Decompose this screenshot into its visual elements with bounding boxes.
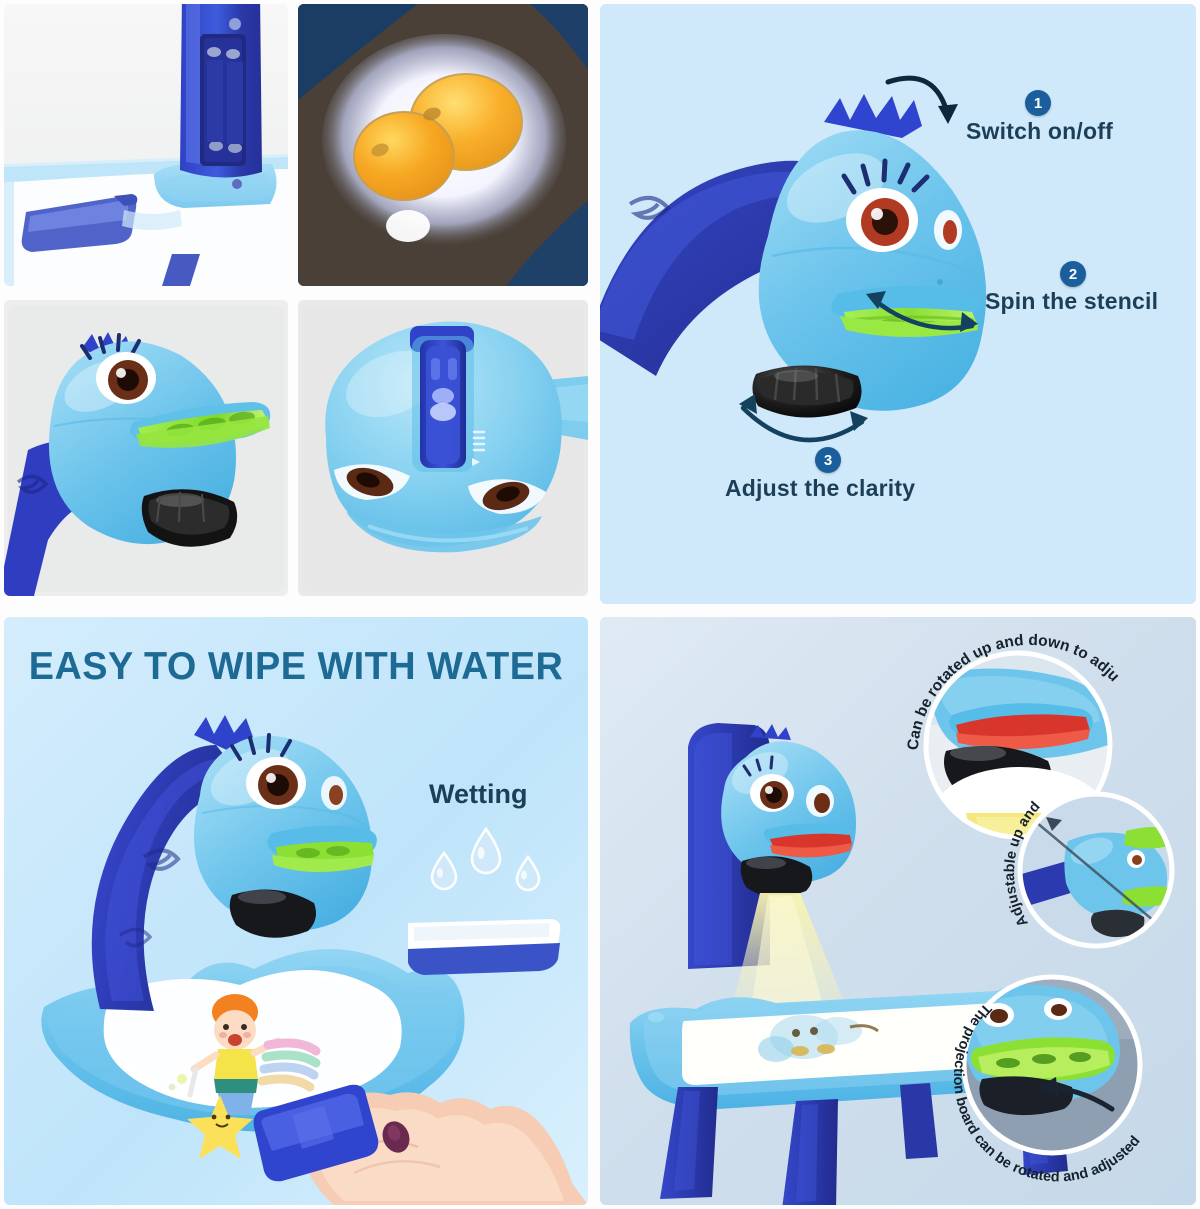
wipe-scene-illustration xyxy=(4,617,588,1205)
step-1-badge: 1 xyxy=(1025,90,1051,116)
projector-table-illustration: Can be rotated up and down to adjust Adj… xyxy=(600,617,1196,1205)
panel-projector-lens-lit xyxy=(298,4,588,286)
panel-battery-compartment xyxy=(4,4,288,286)
head-top-view-illustration xyxy=(298,300,588,596)
panel-easy-wipe: EASY TO WIPE WITH WATER Wetting xyxy=(4,617,588,1205)
panel-head-side-view xyxy=(4,300,288,596)
panel-head-top-view xyxy=(298,300,588,596)
step-2-label: Spin the stencil xyxy=(985,288,1158,315)
step-3-badge: 3 xyxy=(815,447,841,473)
battery-compartment-illustration xyxy=(4,4,288,286)
product-image-collage: 1 Switch on/off 2 Spin the stencil 3 Adj… xyxy=(0,0,1200,1209)
wipe-panel-title: EASY TO WIPE WITH WATER xyxy=(13,645,579,689)
wetting-label: Wetting xyxy=(429,779,527,810)
lens-projection-illustration xyxy=(298,4,588,286)
panel-usage-steps: 1 Switch on/off 2 Spin the stencil 3 Adj… xyxy=(600,4,1196,604)
inset-projection-board-rotate xyxy=(962,975,1142,1155)
step-1-label: Switch on/off xyxy=(966,118,1113,145)
step-2-badge: 2 xyxy=(1060,261,1086,287)
head-side-view-illustration xyxy=(4,300,288,596)
panel-rotation-adjustment: Can be rotated up and down to adjust Adj… xyxy=(600,617,1196,1205)
step-3-label: Adjust the clarity xyxy=(725,475,915,502)
